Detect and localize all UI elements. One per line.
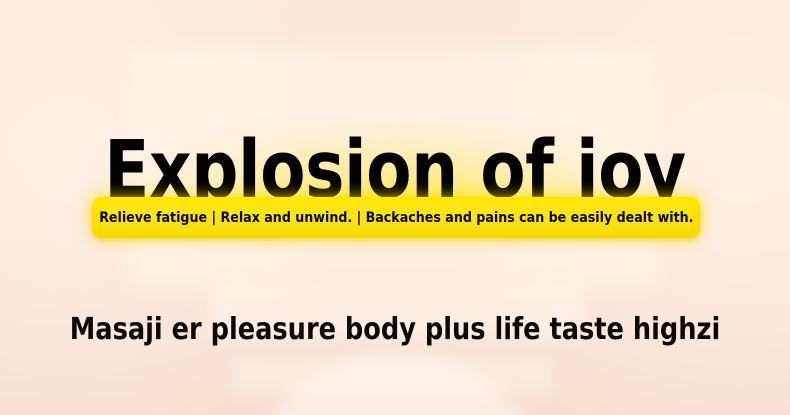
benefits-badge-text: Relieve fatigue | Relax and unwind. | Ba…: [99, 210, 693, 226]
tagline: Masaji er pleasure body plus life taste …: [20, 312, 771, 348]
benefits-badge: Relieve fatigue | Relax and unwind. | Ba…: [92, 197, 700, 238]
promo-banner: Explosion of joy Relieve fatigue | Relax…: [0, 0, 790, 415]
promo-content: Explosion of joy Relieve fatigue | Relax…: [0, 0, 790, 415]
